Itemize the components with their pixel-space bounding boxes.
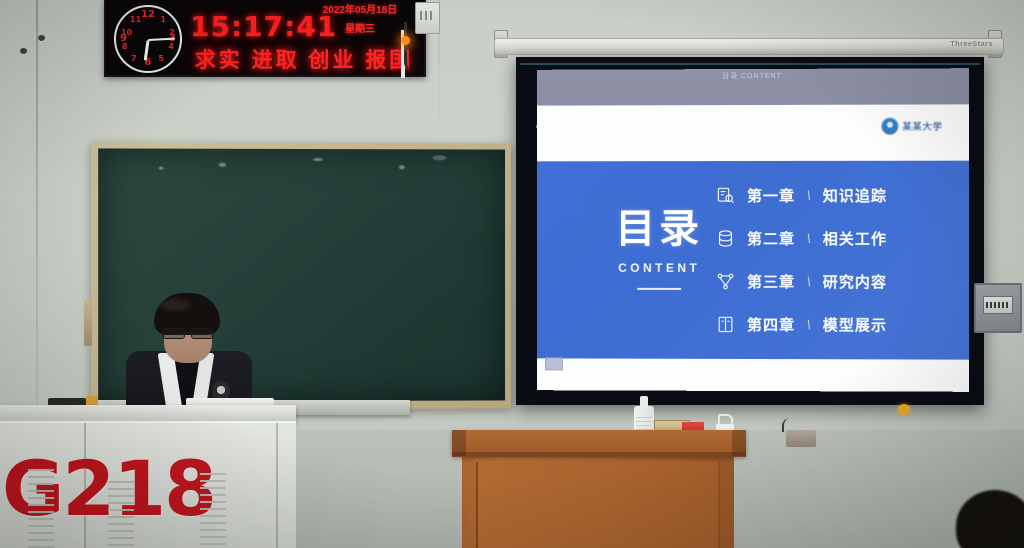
slide-title-cn: 目录 bbox=[585, 209, 734, 249]
clock-numeral: 8 bbox=[122, 43, 128, 51]
led-date-display: 2022年05月18日 bbox=[304, 4, 416, 18]
slide-toc-list: 第一章 \ 知识追踪 第二章 \ 相关工作 bbox=[716, 185, 947, 336]
chalk-mark bbox=[433, 155, 447, 160]
glasses-bridge bbox=[183, 332, 193, 334]
wall-mounted-plate bbox=[786, 430, 816, 447]
glasses-icon bbox=[163, 328, 213, 337]
led-weekday-display: 星期三 bbox=[304, 20, 416, 35]
slide-title-rule bbox=[637, 288, 681, 290]
toc-item-text: 知识追踪 bbox=[823, 185, 887, 206]
led-motto-display: 求实 进取 创业 报国 bbox=[190, 44, 418, 74]
wall-seam bbox=[36, 0, 38, 430]
clock-numeral: 4 bbox=[168, 43, 174, 51]
database-icon bbox=[716, 229, 735, 248]
wooden-podium bbox=[452, 430, 746, 548]
cabinet-vent bbox=[28, 469, 54, 548]
cabinet-seam bbox=[276, 423, 278, 548]
toc-separator: \ bbox=[806, 317, 812, 332]
university-logo: 某某大学 bbox=[881, 118, 942, 135]
podium-front-panel bbox=[476, 462, 720, 548]
toc-separator: \ bbox=[806, 231, 812, 246]
wall-outlet-panel bbox=[974, 283, 1022, 333]
podium-corner-left bbox=[452, 430, 466, 456]
classroom-scene: 12 1 2 3 4 5 6 7 8 9 10 11 15:17:41 2022… bbox=[0, 0, 1024, 548]
toc-separator: \ bbox=[806, 188, 812, 203]
clock-numeral: 10 bbox=[121, 29, 132, 37]
cabinet-vent bbox=[108, 481, 134, 548]
clock-numeral: 1 bbox=[160, 16, 166, 24]
slide-header-band: 某某大学 bbox=[537, 104, 969, 161]
power-cable bbox=[404, 22, 421, 72]
toc-chapter-label: 第三章 bbox=[747, 271, 795, 292]
chalk-mark bbox=[219, 163, 226, 167]
cabinet-vent bbox=[200, 473, 226, 548]
toc-chapter-label: 第四章 bbox=[747, 314, 795, 335]
slide-title-en: CONTENT bbox=[585, 261, 734, 275]
clock-numeral: 11 bbox=[130, 16, 141, 24]
glasses-lens-right bbox=[191, 328, 213, 339]
clock-numeral: 12 bbox=[141, 10, 155, 20]
projection-screen: 目录 CONTENT 某某大学 目录 CONTENT bbox=[516, 57, 984, 405]
projector-screen-roller: ThreeStars bbox=[494, 38, 1004, 55]
slide-topbar: 目录 CONTENT bbox=[537, 68, 969, 105]
toc-item-text: 相关工作 bbox=[823, 228, 887, 249]
toc-item-text: 研究内容 bbox=[823, 271, 887, 292]
chalk-mark bbox=[313, 158, 323, 161]
amber-indicator-icon bbox=[898, 404, 910, 415]
power-indicator-icon bbox=[401, 36, 410, 45]
toc-item-4: 第四章 \ 模型展示 bbox=[716, 314, 947, 336]
clock-numeral: 5 bbox=[158, 55, 164, 63]
toc-chapter-label: 第二章 bbox=[747, 228, 795, 249]
university-emblem-icon bbox=[881, 118, 898, 135]
toc-separator: \ bbox=[806, 274, 812, 289]
toc-item-1: 第一章 \ 知识追踪 bbox=[716, 185, 947, 206]
slide-title-block: 目录 CONTENT bbox=[585, 209, 734, 290]
network-icon bbox=[716, 272, 735, 291]
analog-clock-icon: 12 1 2 3 4 5 6 7 8 9 10 11 bbox=[114, 5, 182, 73]
slide-footer-band bbox=[537, 358, 969, 391]
toc-item-2: 第二章 \ 相关工作 bbox=[716, 228, 947, 249]
book-icon bbox=[716, 315, 735, 334]
toc-item-text: 模型展示 bbox=[823, 314, 887, 335]
socket-contacts-icon bbox=[420, 11, 435, 20]
slide-content-area: 目录 CONTENT 第一章 \ 知识追踪 bbox=[537, 161, 969, 360]
podium-corner-right bbox=[732, 430, 746, 456]
presentation-slide: 目录 CONTENT 某某大学 目录 CONTENT bbox=[537, 68, 969, 392]
toc-chapter-label: 第一章 bbox=[747, 185, 795, 206]
wall-screw-icon bbox=[20, 48, 27, 54]
university-name: 某某大学 bbox=[902, 120, 942, 133]
blackboard-side-hook bbox=[84, 300, 92, 346]
podium-top-edge bbox=[452, 452, 746, 457]
led-clock-board: 12 1 2 3 4 5 6 7 8 9 10 11 15:17:41 2022… bbox=[104, 0, 426, 77]
slide-topbar-text: 目录 CONTENT bbox=[722, 71, 782, 81]
outlet-socket-icon bbox=[983, 296, 1013, 314]
wall-screw-icon bbox=[38, 35, 45, 41]
glasses-lens-left bbox=[163, 328, 185, 339]
toc-item-3: 第三章 \ 研究内容 bbox=[716, 271, 947, 292]
sanitizer-label bbox=[636, 417, 652, 430]
person-student bbox=[126, 293, 252, 415]
chalk-mark bbox=[159, 167, 164, 170]
console-cabinet: G218 bbox=[0, 421, 296, 548]
document-search-icon bbox=[716, 186, 735, 205]
clock-numeral: 7 bbox=[131, 55, 137, 63]
chalk-mark bbox=[399, 165, 405, 169]
roller-brand-label: ThreeStars bbox=[950, 41, 993, 48]
slide-footer-mark bbox=[545, 357, 563, 370]
